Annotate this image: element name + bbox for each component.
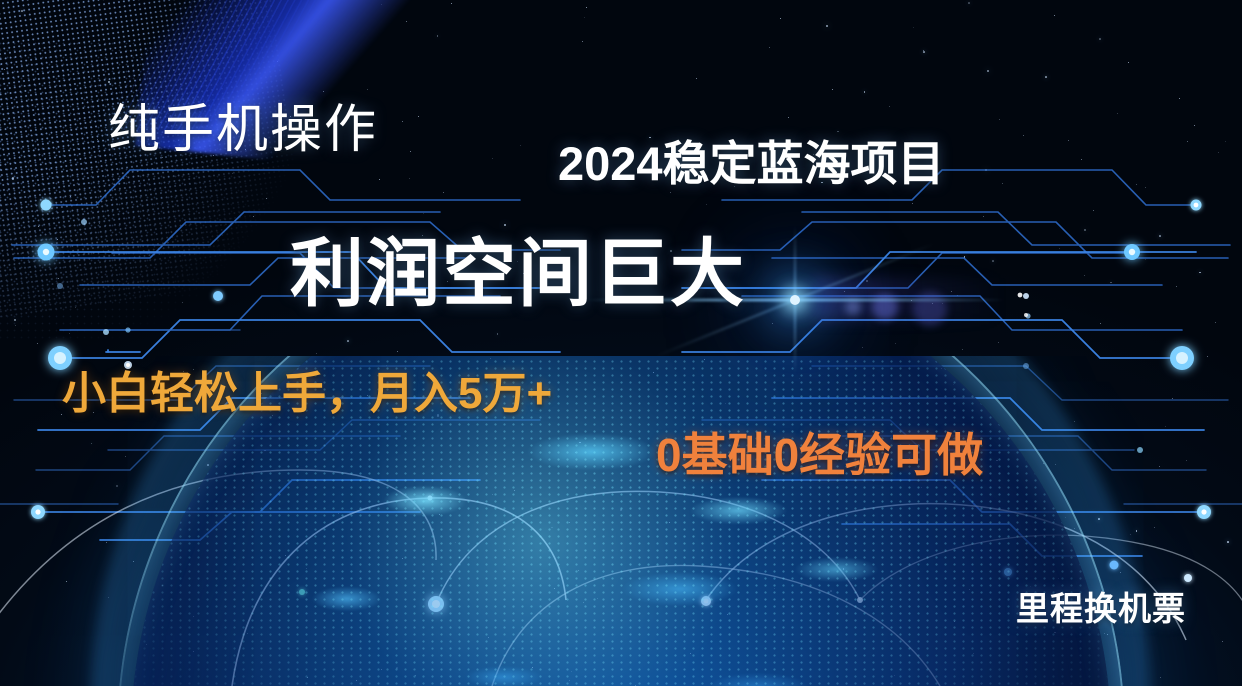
headline-newbie-income: 小白轻松上手，月入5万+ — [62, 372, 552, 416]
promo-banner: 纯手机操作 2024稳定蓝海项目 利润空间巨大 小白轻松上手，月入5万+ 0基础… — [0, 0, 1242, 686]
lens-flare-core — [790, 295, 800, 305]
brand-label: 里程换机票 — [1016, 592, 1186, 625]
headline-profit: 利润空间巨大 — [290, 237, 746, 311]
flare-bokeh-large — [913, 292, 947, 326]
headline-year-project: 2024稳定蓝海项目 — [558, 140, 945, 187]
headline-pure-mobile: 纯手机操作 — [108, 104, 378, 156]
headline-zero-experience: 0基础0经验可做 — [656, 432, 983, 478]
circuit-node-group-right — [1004, 200, 1211, 577]
globe-network-arcs — [0, 470, 1242, 686]
